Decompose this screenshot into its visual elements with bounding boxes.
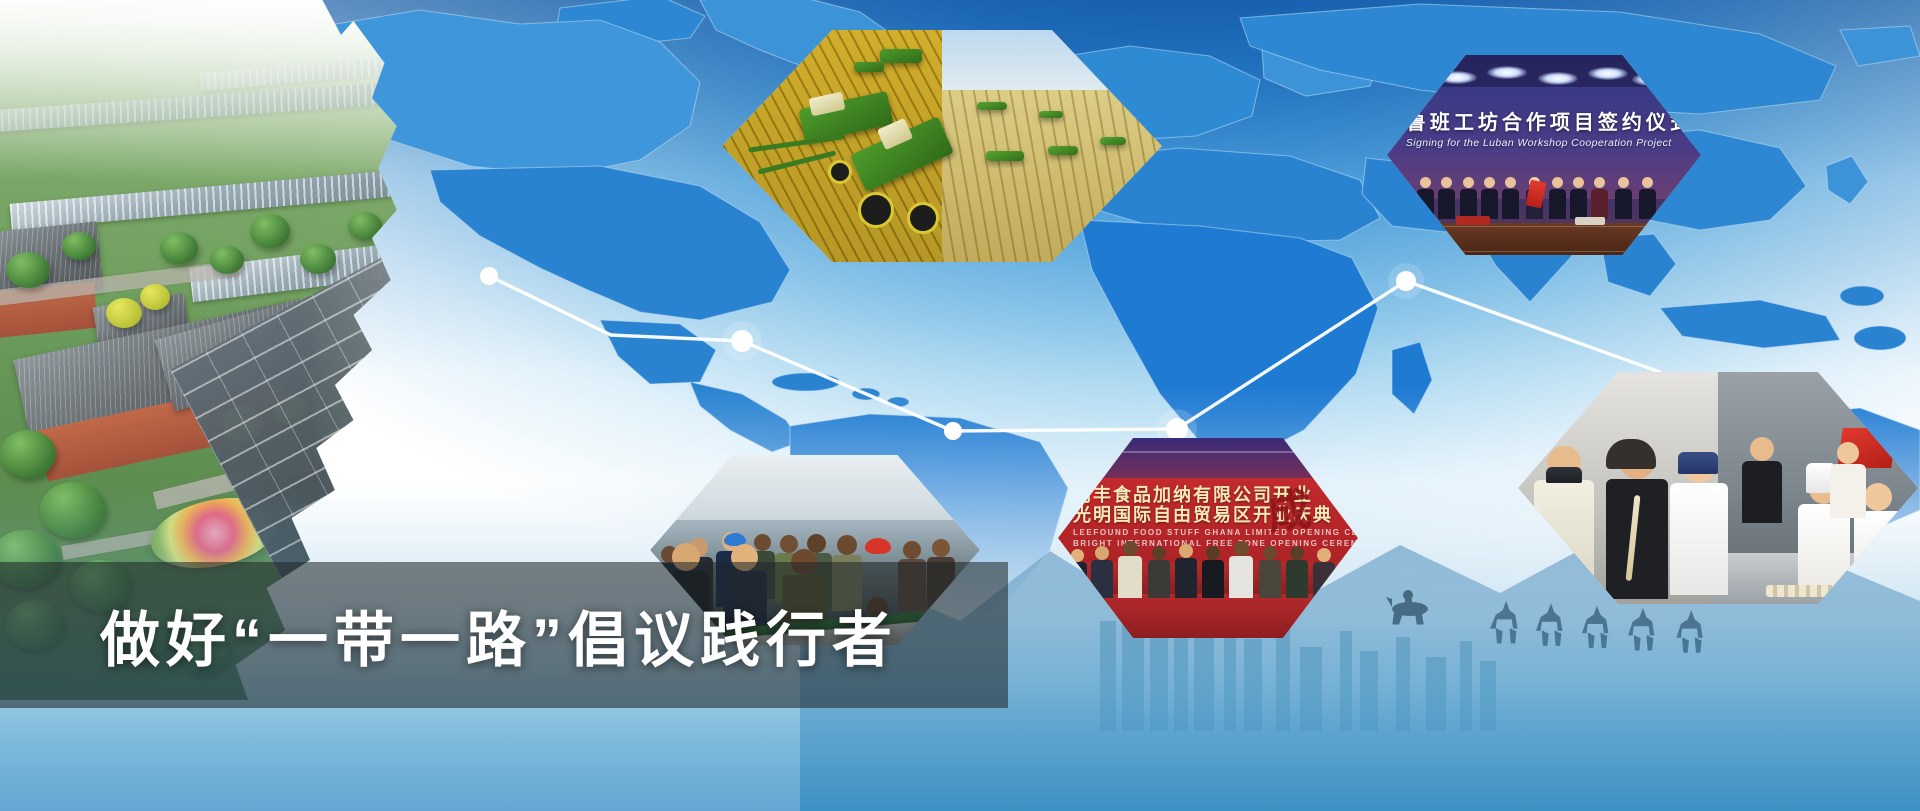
blue-chef-cap-icon (1678, 452, 1718, 474)
observer-chef (1830, 442, 1866, 518)
luban-banner-english-subtitle: Signing for the Luban Workshop Cooperati… (1406, 137, 1682, 149)
kitchen-staff (1742, 437, 1782, 523)
luban-banner-chinese-title: 鲁班工坊合作项目签约仪式 (1406, 113, 1682, 133)
red-hard-hat-icon (865, 538, 891, 554)
calligraphy-character: 成 (1265, 487, 1326, 548)
chef-hat-icon (1546, 467, 1582, 483)
hero-banner: 鲁班工坊合作项目签约仪式 Signing for the Luban Works… (0, 0, 1920, 811)
page-title: 做好“一带一路”倡议践行者 (0, 562, 1008, 708)
dough-pieces (1766, 585, 1836, 597)
student-hair (1606, 439, 1656, 469)
